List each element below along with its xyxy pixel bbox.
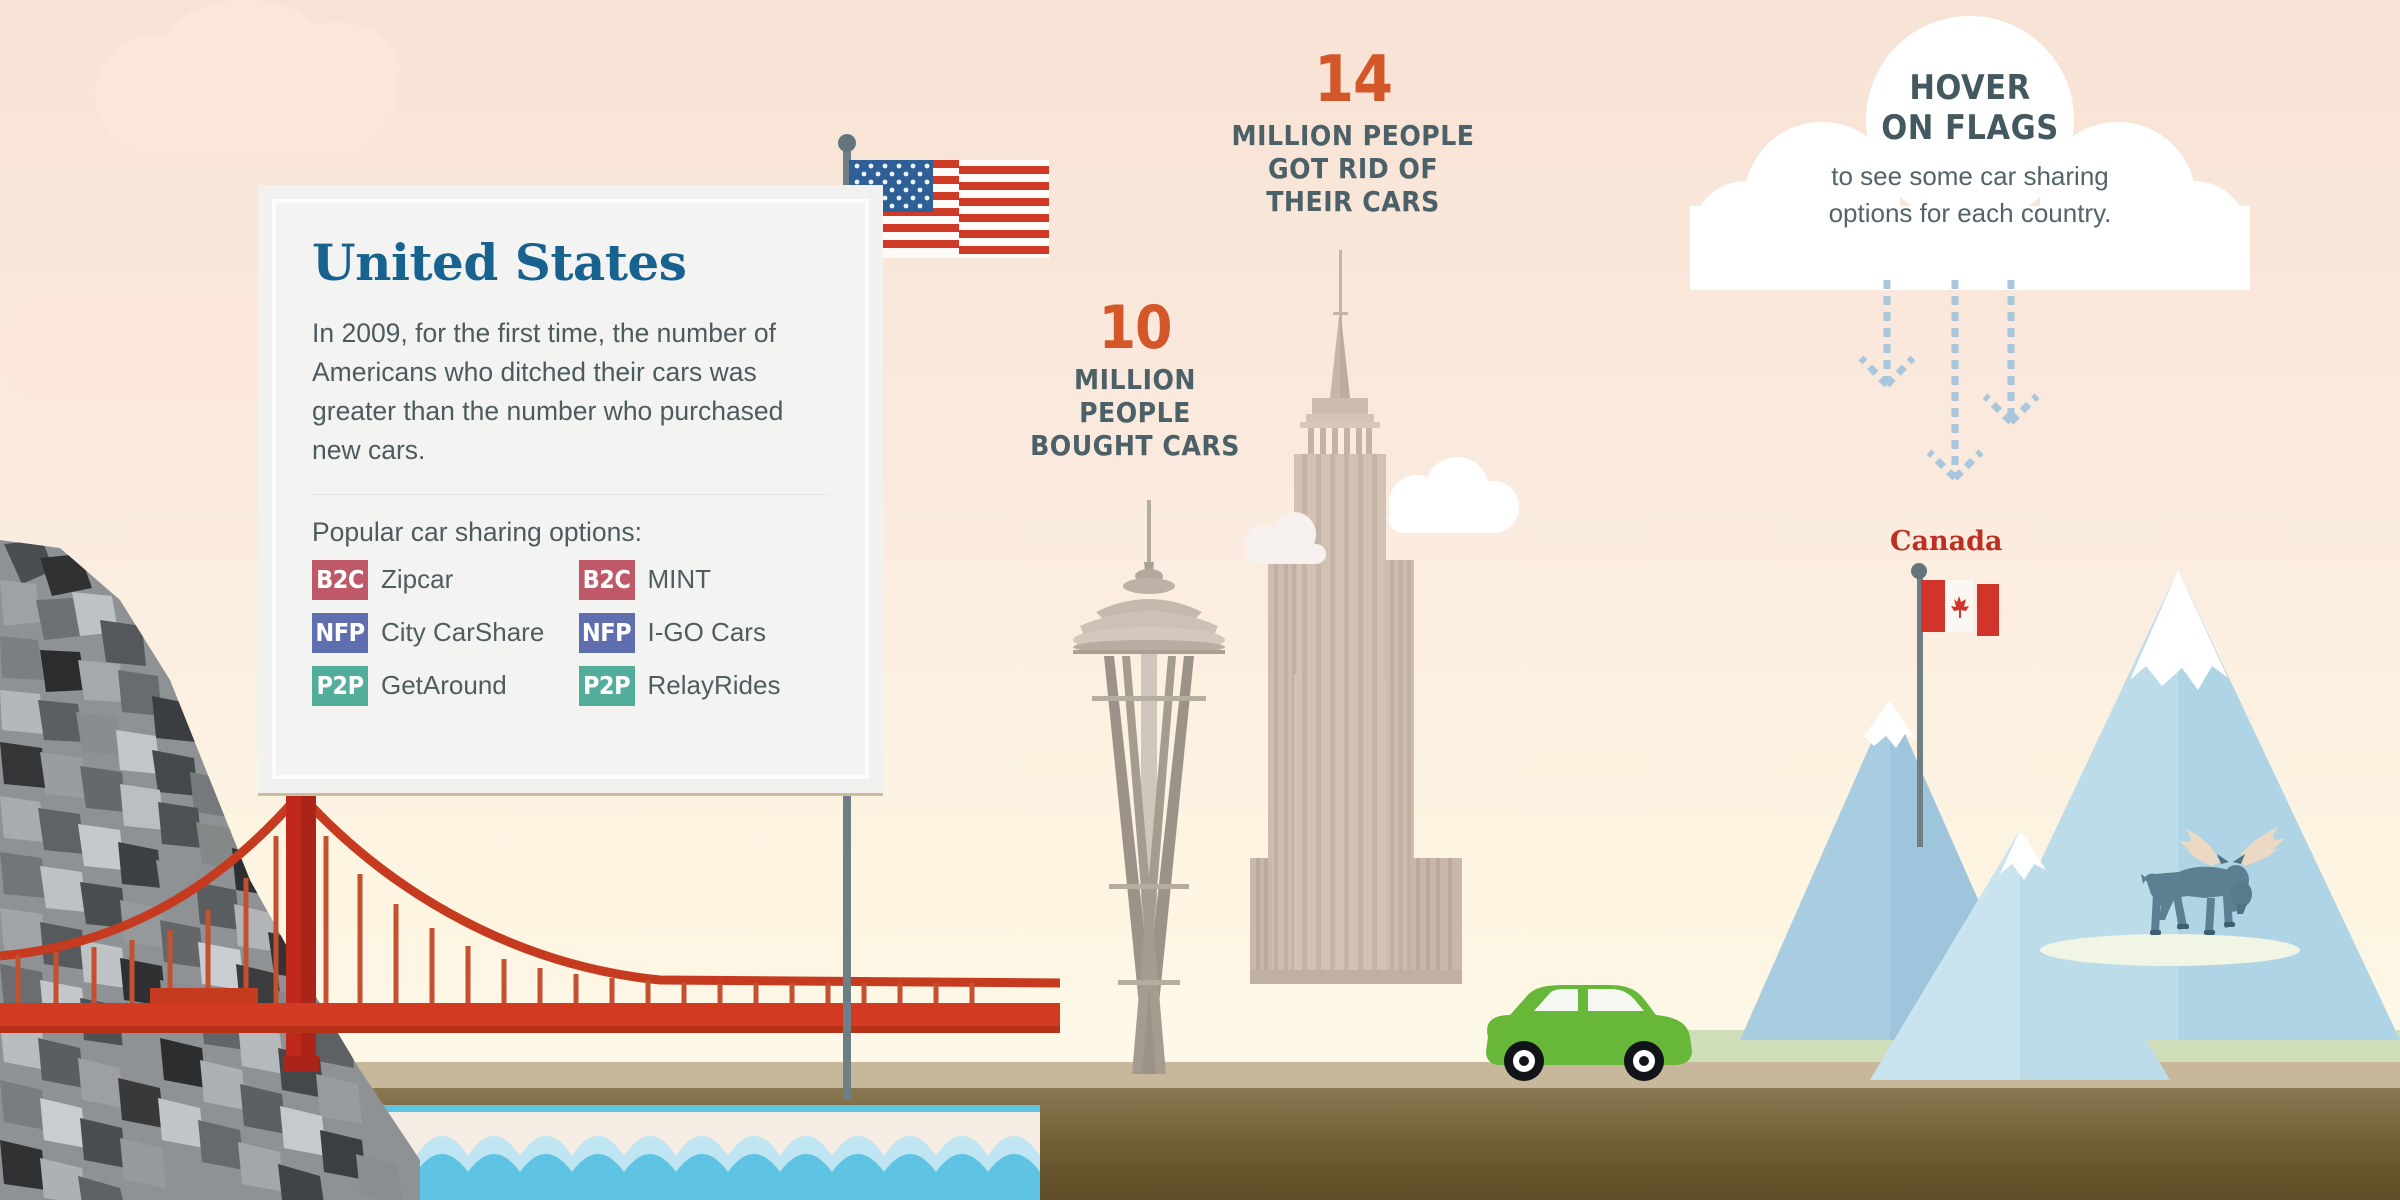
dashed-arrows-group <box>1855 280 2115 530</box>
stat-label-line: GOT RID OF <box>1183 152 1523 185</box>
options-label: Popular car sharing options: <box>312 495 829 560</box>
stat-number: 10 <box>1010 300 1260 357</box>
badge-b2c: B2C <box>312 560 368 600</box>
stat-label-line: MILLION <box>1010 363 1260 396</box>
moose-icon <box>2125 820 2325 950</box>
list-item[interactable]: P2P RelayRides <box>579 666 830 706</box>
background-cloud <box>270 22 400 114</box>
badge-p2p: P2P <box>579 666 635 706</box>
callout-headline-line: ON FLAGS <box>1690 108 2250 148</box>
option-name: RelayRides <box>648 670 781 701</box>
stat-label-line: BOUGHT CARS <box>1010 429 1260 462</box>
callout-subtext-line: options for each country. <box>1690 195 2250 232</box>
list-item[interactable]: NFP City CarShare <box>312 613 563 653</box>
option-name: I-GO Cars <box>648 617 766 648</box>
callout-subtext: to see some car sharing options for each… <box>1690 158 2250 232</box>
us-flag-pole-cap <box>838 134 856 152</box>
stat-label-line: PEOPLE <box>1010 396 1260 429</box>
callout-headline: HOVER ON FLAGS <box>1690 68 2250 148</box>
badge-nfp: NFP <box>312 613 368 653</box>
page-title: United States <box>312 233 829 292</box>
card-inner: United States In 2009, for the first tim… <box>272 199 869 779</box>
option-name: City CarShare <box>381 617 544 648</box>
car-sharing-options-grid: B2C Zipcar B2C MINT NFP City CarShare NF… <box>312 560 829 706</box>
small-cloud <box>1365 455 1525 535</box>
stat-label: MILLION PEOPLE BOUGHT CARS <box>1010 363 1260 462</box>
callout-subtext-line: to see some car sharing <box>1690 158 2250 195</box>
stat-label-line: MILLION PEOPLE <box>1183 119 1523 152</box>
list-item[interactable]: B2C MINT <box>579 560 830 600</box>
badge-p2p: P2P <box>312 666 368 706</box>
arrow-head-left <box>1861 358 1887 385</box>
stat-label: MILLION PEOPLE GOT RID OF THEIR CARS <box>1183 119 1523 218</box>
stat-label-line: THEIR CARS <box>1183 185 1523 218</box>
arrow-head-right <box>1887 358 1913 385</box>
green-car-icon <box>1480 975 1700 1085</box>
space-needle <box>1040 500 1260 1080</box>
arrow-head-right <box>1955 452 1981 478</box>
arrow-head-right <box>2011 396 2037 422</box>
infographic-canvas: United States In 2009, for the first tim… <box>0 0 2400 1200</box>
golden-gate-bridge <box>0 770 1060 1100</box>
badge-nfp: NFP <box>579 613 635 653</box>
stat-got-rid-of-cars: 14 MILLION PEOPLE GOT RID OF THEIR CARS <box>1183 50 1523 218</box>
callout-text: HOVER ON FLAGS to see some car sharing o… <box>1690 68 2250 232</box>
card-body-text: In 2009, for the first time, the number … <box>312 314 829 495</box>
option-name: MINT <box>648 564 712 595</box>
arrow-head-left <box>1985 396 2011 422</box>
list-item[interactable]: B2C Zipcar <box>312 560 563 600</box>
list-item[interactable]: P2P GetAround <box>312 666 563 706</box>
option-name: GetAround <box>381 670 507 701</box>
empire-state-building <box>1250 250 1480 1080</box>
country-label-canada: Canada <box>1890 526 2002 557</box>
badge-b2c: B2C <box>579 560 635 600</box>
stat-number: 14 <box>1183 50 1523 111</box>
canada-flag-pole-cap <box>1911 563 1927 579</box>
hover-hint-callout: HOVER ON FLAGS to see some car sharing o… <box>1690 10 2250 290</box>
arrow-head-left <box>1929 452 1955 478</box>
canada-flag-icon[interactable] <box>1921 578 2001 640</box>
small-cloud <box>1230 510 1340 564</box>
option-name: Zipcar <box>381 564 453 595</box>
snow-capped-mountains <box>1700 540 2400 1080</box>
stat-bought-cars: 10 MILLION PEOPLE BOUGHT CARS <box>1010 300 1260 462</box>
united-states-info-card[interactable]: United States In 2009, for the first tim… <box>258 185 883 793</box>
list-item[interactable]: NFP I-GO Cars <box>579 613 830 653</box>
callout-headline-line: HOVER <box>1690 68 2250 108</box>
